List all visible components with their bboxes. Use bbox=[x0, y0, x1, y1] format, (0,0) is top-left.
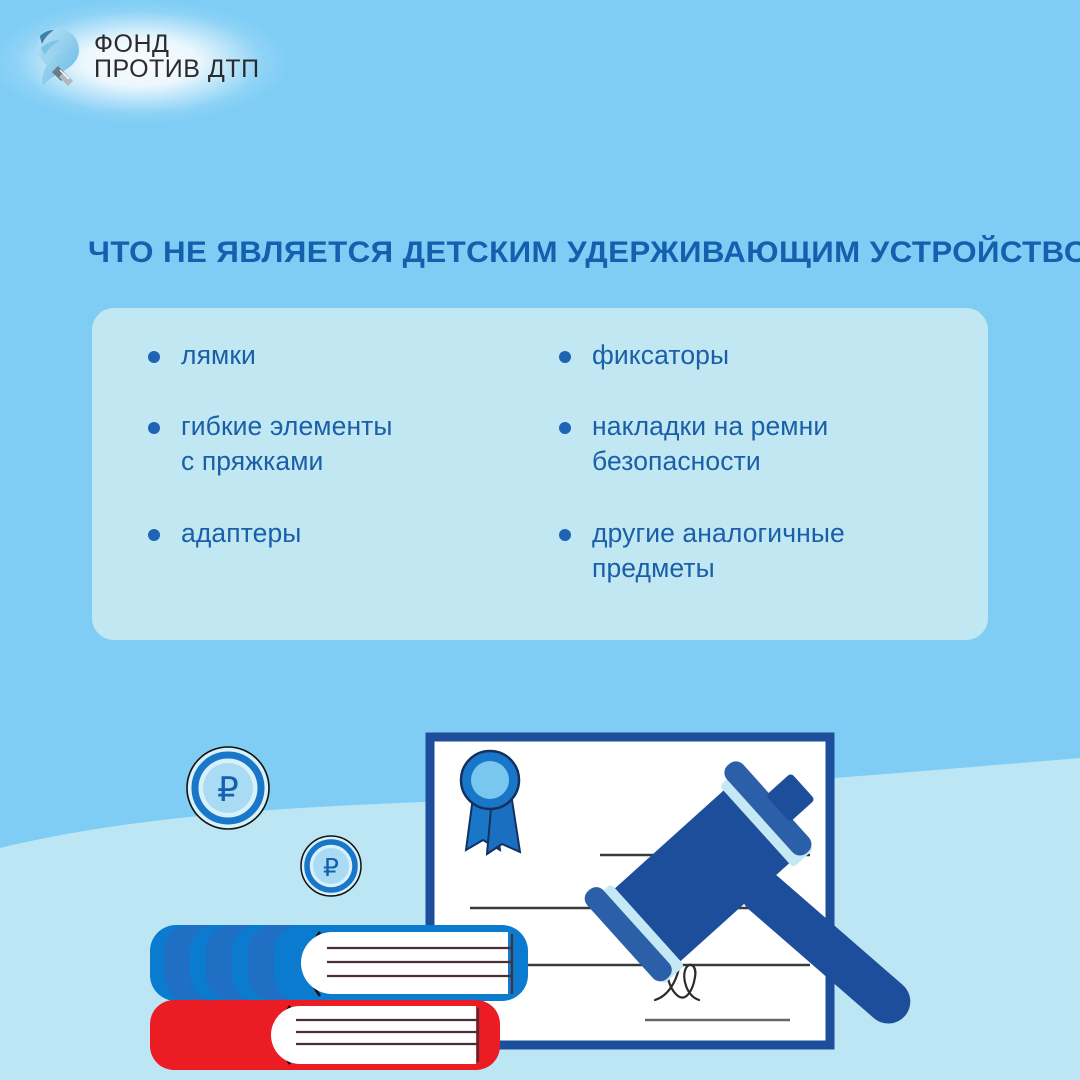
list-item: накладки на ремни безопасности bbox=[559, 409, 948, 479]
list-item: адаптеры bbox=[148, 516, 535, 551]
bullet-icon bbox=[559, 529, 571, 541]
ruble-coin-large-icon: ₽ bbox=[187, 747, 269, 829]
bullet-icon bbox=[559, 422, 571, 434]
ribbon-road-icon bbox=[28, 26, 82, 88]
list-item: фиксаторы bbox=[559, 338, 948, 373]
bullet-icon bbox=[148, 529, 160, 541]
list-item-label: гибкие элементы с пряжками bbox=[181, 409, 393, 479]
brand-line-1: ФОНД bbox=[94, 32, 260, 58]
brand-name: ФОНД ПРОТИВ ДТП bbox=[94, 32, 260, 83]
brand-logo[interactable]: ФОНД ПРОТИВ ДТП bbox=[28, 26, 260, 88]
exclusions-card: лямки гибкие элементы с пряжками адаптер… bbox=[92, 308, 988, 640]
page-title: ЧТО НЕ ЯВЛЯЕТСЯ ДЕТСКИМ УДЕРЖИВАЮЩИМ УСТ… bbox=[88, 236, 1042, 270]
list-item-label: адаптеры bbox=[181, 516, 301, 551]
award-ribbon-icon bbox=[461, 751, 520, 854]
list-item: лямки bbox=[148, 338, 535, 373]
list-item: другие аналогичные предметы bbox=[559, 516, 948, 586]
list-item: гибкие элементы с пряжками bbox=[148, 409, 535, 479]
list-column-left: лямки гибкие элементы с пряжками адаптер… bbox=[122, 338, 535, 640]
list-item-label: другие аналогичные предметы bbox=[592, 516, 845, 586]
coin-symbol: ₽ bbox=[217, 771, 239, 809]
infographic-canvas: ФОНД ПРОТИВ ДТП ЧТО НЕ ЯВЛЯЕТСЯ ДЕТСКИМ … bbox=[0, 0, 1080, 1080]
list-item-label: накладки на ремни безопасности bbox=[592, 409, 828, 479]
list-item-label: лямки bbox=[181, 338, 256, 373]
list-item-label: фиксаторы bbox=[592, 338, 729, 373]
ruble-coin-small-icon: ₽ bbox=[301, 836, 361, 896]
bullet-icon bbox=[148, 422, 160, 434]
brand-line-2: ПРОТИВ ДТП bbox=[94, 57, 260, 83]
list-column-right: фиксаторы накладки на ремни безопасности… bbox=[535, 338, 948, 640]
legal-illustration: ₽ ₽ bbox=[0, 700, 1080, 1080]
coin-symbol: ₽ bbox=[323, 854, 339, 882]
bullet-icon bbox=[148, 351, 160, 363]
red-book-icon bbox=[150, 1000, 500, 1070]
blue-book-icon bbox=[150, 925, 528, 1001]
bullet-icon bbox=[559, 351, 571, 363]
